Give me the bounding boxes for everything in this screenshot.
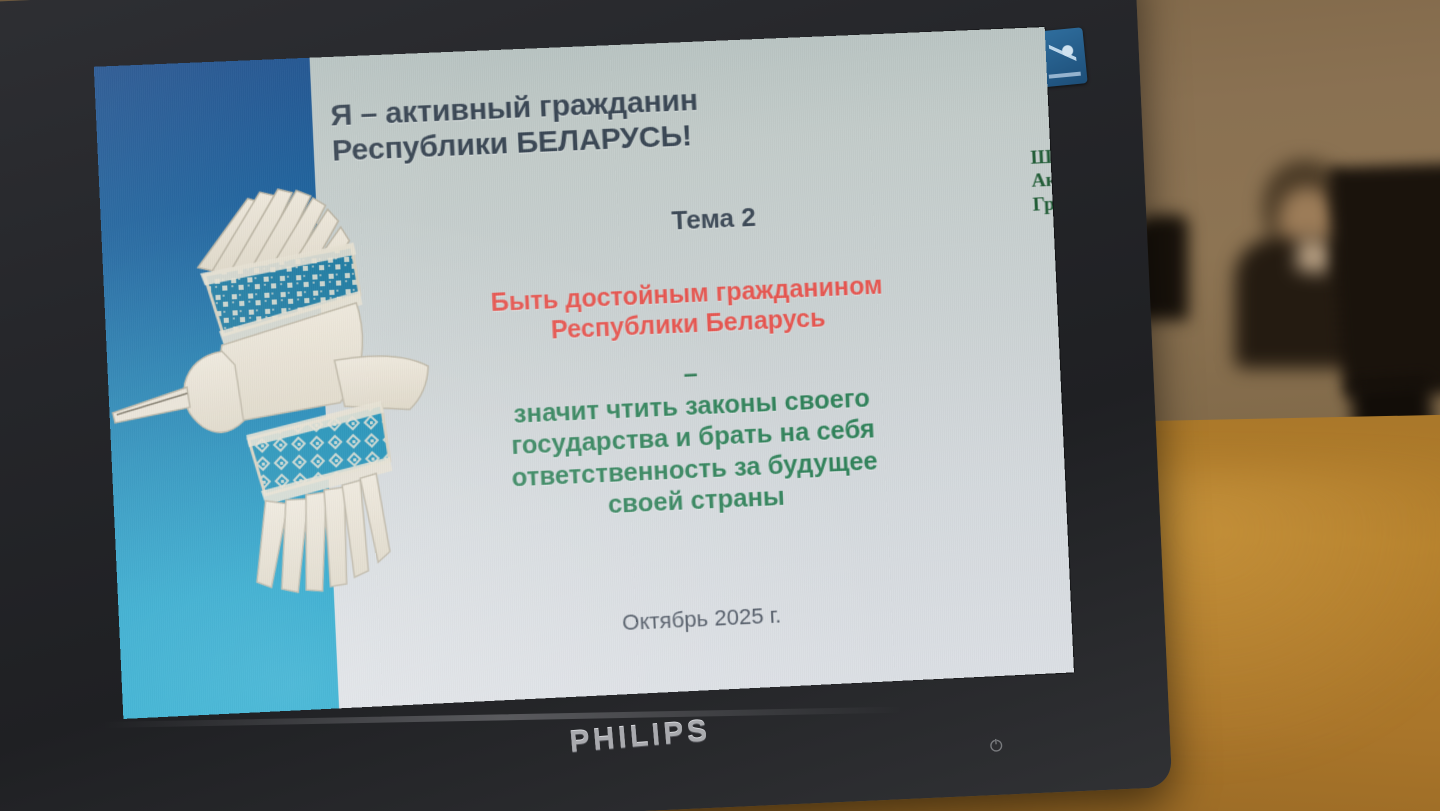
sticker-mark <box>1049 42 1077 64</box>
philips-monitor: Я – активный гражданин Республики БЕЛАРУ… <box>0 0 1172 811</box>
photo-scene: Я – активный гражданин Республики БЕЛАРУ… <box>0 0 1440 811</box>
sticker-bar <box>1049 72 1081 79</box>
power-icon[interactable] <box>987 736 1004 753</box>
person-collar <box>1295 240 1331 274</box>
slide-date: Октябрь 2025 г. <box>347 589 1053 649</box>
slide-headline: Я – активный гражданин Республики БЕЛАРУ… <box>330 78 848 170</box>
slide-statement-red: Быть достойным гражданином Республики Бе… <box>333 264 1041 356</box>
background-monitor <box>1328 163 1440 398</box>
slide-content: Я – активный гражданин Республики БЕЛАРУ… <box>310 27 1074 708</box>
monitor-screen: Я – активный гражданин Республики БЕЛАРУ… <box>94 27 1074 719</box>
slide-topic-label: Тема 2 <box>671 202 757 237</box>
